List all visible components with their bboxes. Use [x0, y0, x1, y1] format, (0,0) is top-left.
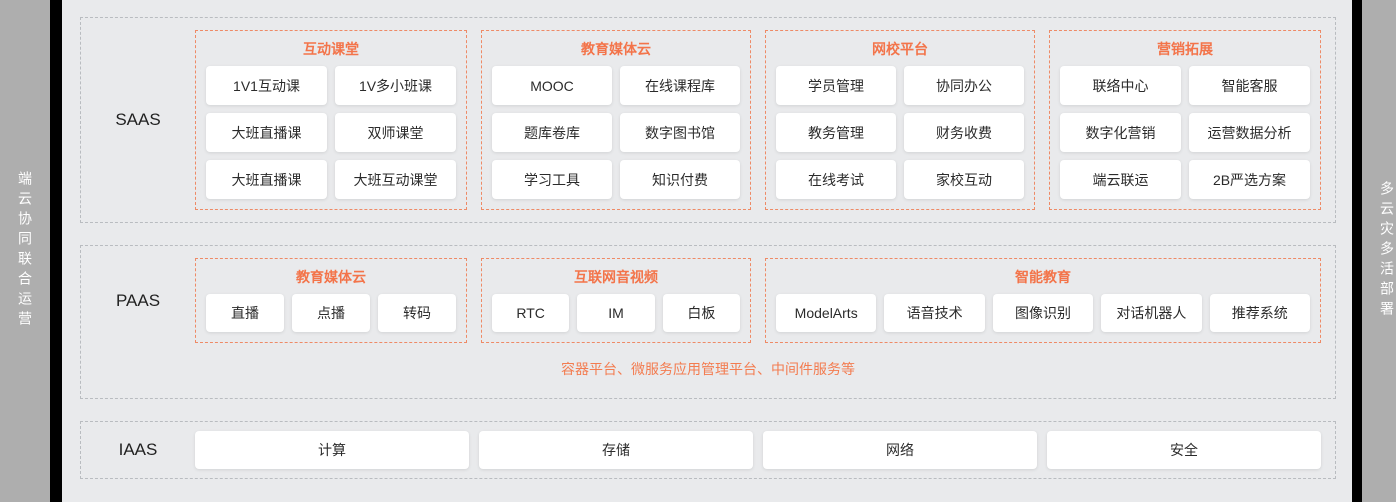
service-card[interactable]: 存储: [479, 431, 753, 469]
service-card[interactable]: 数字图书馆: [620, 113, 740, 152]
paas-footnote: 容器平台、微服务应用管理平台、中间件服务等: [81, 353, 1335, 379]
group-saas-marketing-expansion: 营销拓展 联络中心 智能客服 数字化营销 运营数据分析 端云联运 2B严选方案: [1049, 30, 1321, 210]
group-saas-online-school-platform: 网校平台 学员管理 协同办公 教务管理 财务收费 在线考试 家校互动: [765, 30, 1035, 210]
service-card[interactable]: 数字化营销: [1060, 113, 1181, 152]
group-paas-smart-education: 智能教育 ModelArts 语音技术 图像识别 对话机器人 推荐系统: [765, 258, 1321, 343]
layer-paas: PAAS 教育媒体云 直播 点播 转码 互联网音视频 RTC: [80, 245, 1336, 399]
service-card[interactable]: 推荐系统: [1210, 294, 1310, 332]
group-title: 教育媒体云: [492, 39, 740, 59]
service-card[interactable]: MOOC: [492, 66, 612, 105]
service-card[interactable]: 大班直播课: [206, 113, 327, 152]
service-card[interactable]: 在线考试: [776, 160, 896, 199]
service-card[interactable]: IM: [577, 294, 654, 332]
group-title: 网校平台: [776, 39, 1024, 59]
service-card[interactable]: 2B严选方案: [1189, 160, 1310, 199]
service-card[interactable]: 大班直播课: [206, 160, 327, 199]
layer-iaas-label: IAAS: [81, 440, 195, 460]
group-grid: 联络中心 智能客服 数字化营销 运营数据分析 端云联运 2B严选方案: [1060, 66, 1310, 199]
service-card[interactable]: 1V多小班课: [335, 66, 456, 105]
service-card[interactable]: 协同办公: [904, 66, 1024, 105]
group-paas-internet-av: 互联网音视频 RTC IM 白板: [481, 258, 751, 343]
service-card[interactable]: 知识付费: [620, 160, 740, 199]
service-card[interactable]: 白板: [663, 294, 740, 332]
service-card[interactable]: 教务管理: [776, 113, 896, 152]
left-rail: 端云协同联合运营: [0, 0, 50, 502]
layer-paas-body: 教育媒体云 直播 点播 转码 互联网音视频 RTC IM 白板: [195, 246, 1335, 355]
diagram-body: SAAS 互动课堂 1V1互动课 1V多小班课 大班直播课 双师课堂 大班直播课…: [62, 0, 1352, 502]
right-rail-label: 多云灾多活部署: [1380, 181, 1394, 321]
group-paas-edu-media-cloud: 教育媒体云 直播 点播 转码: [195, 258, 467, 343]
service-card[interactable]: 家校互动: [904, 160, 1024, 199]
service-card[interactable]: 点播: [292, 294, 370, 332]
group-grid: 直播 点播 转码: [206, 294, 456, 332]
service-card[interactable]: 转码: [378, 294, 456, 332]
service-card[interactable]: 语音技术: [884, 294, 984, 332]
service-card[interactable]: 智能客服: [1189, 66, 1310, 105]
service-card[interactable]: 大班互动课堂: [335, 160, 456, 199]
service-card[interactable]: 计算: [195, 431, 469, 469]
right-rail: 多云灾多活部署: [1362, 0, 1396, 502]
layer-iaas: IAAS 计算 存储 网络 安全: [80, 421, 1336, 479]
service-card[interactable]: 学员管理: [776, 66, 896, 105]
service-card[interactable]: 运营数据分析: [1189, 113, 1310, 152]
left-rail-divider: [50, 0, 62, 502]
left-rail-label: 端云协同联合运营: [18, 171, 32, 331]
group-title: 营销拓展: [1060, 39, 1310, 59]
service-card[interactable]: 题库卷库: [492, 113, 612, 152]
group-saas-edu-media-cloud: 教育媒体云 MOOC 在线课程库 题库卷库 数字图书馆 学习工具 知识付费: [481, 30, 751, 210]
service-card[interactable]: 图像识别: [993, 294, 1093, 332]
group-title: 智能教育: [776, 267, 1310, 287]
service-card[interactable]: RTC: [492, 294, 569, 332]
service-card[interactable]: 双师课堂: [335, 113, 456, 152]
service-card[interactable]: 直播: [206, 294, 284, 332]
service-card[interactable]: 学习工具: [492, 160, 612, 199]
layer-saas-label: SAAS: [81, 18, 195, 222]
layer-saas-body: 互动课堂 1V1互动课 1V多小班课 大班直播课 双师课堂 大班直播课 大班互动…: [195, 18, 1335, 222]
service-card[interactable]: ModelArts: [776, 294, 876, 332]
layer-paas-label: PAAS: [81, 246, 195, 355]
service-card[interactable]: 在线课程库: [620, 66, 740, 105]
group-title: 互联网音视频: [492, 267, 740, 287]
group-saas-interactive-classroom: 互动课堂 1V1互动课 1V多小班课 大班直播课 双师课堂 大班直播课 大班互动…: [195, 30, 467, 210]
service-card[interactable]: 安全: [1047, 431, 1321, 469]
right-rail-divider: [1352, 0, 1362, 502]
layer-paas-row: PAAS 教育媒体云 直播 点播 转码 互联网音视频 RTC: [81, 246, 1335, 355]
group-grid: 学员管理 协同办公 教务管理 财务收费 在线考试 家校互动: [776, 66, 1024, 199]
layer-saas: SAAS 互动课堂 1V1互动课 1V多小班课 大班直播课 双师课堂 大班直播课…: [80, 17, 1336, 223]
group-title: 教育媒体云: [206, 267, 456, 287]
service-card[interactable]: 端云联运: [1060, 160, 1181, 199]
group-grid: RTC IM 白板: [492, 294, 740, 332]
service-card[interactable]: 网络: [763, 431, 1037, 469]
service-card[interactable]: 财务收费: [904, 113, 1024, 152]
group-grid: MOOC 在线课程库 题库卷库 数字图书馆 学习工具 知识付费: [492, 66, 740, 199]
group-title: 互动课堂: [206, 39, 456, 59]
group-grid: 1V1互动课 1V多小班课 大班直播课 双师课堂 大班直播课 大班互动课堂: [206, 66, 456, 199]
group-grid: ModelArts 语音技术 图像识别 对话机器人 推荐系统: [776, 294, 1310, 332]
service-card[interactable]: 对话机器人: [1101, 294, 1201, 332]
service-card[interactable]: 联络中心: [1060, 66, 1181, 105]
service-card[interactable]: 1V1互动课: [206, 66, 327, 105]
layer-iaas-body: 计算 存储 网络 安全: [195, 431, 1335, 469]
architecture-diagram: 端云协同联合运营 SAAS 互动课堂 1V1互动课 1V多小班课 大班直播课 双…: [0, 0, 1396, 502]
